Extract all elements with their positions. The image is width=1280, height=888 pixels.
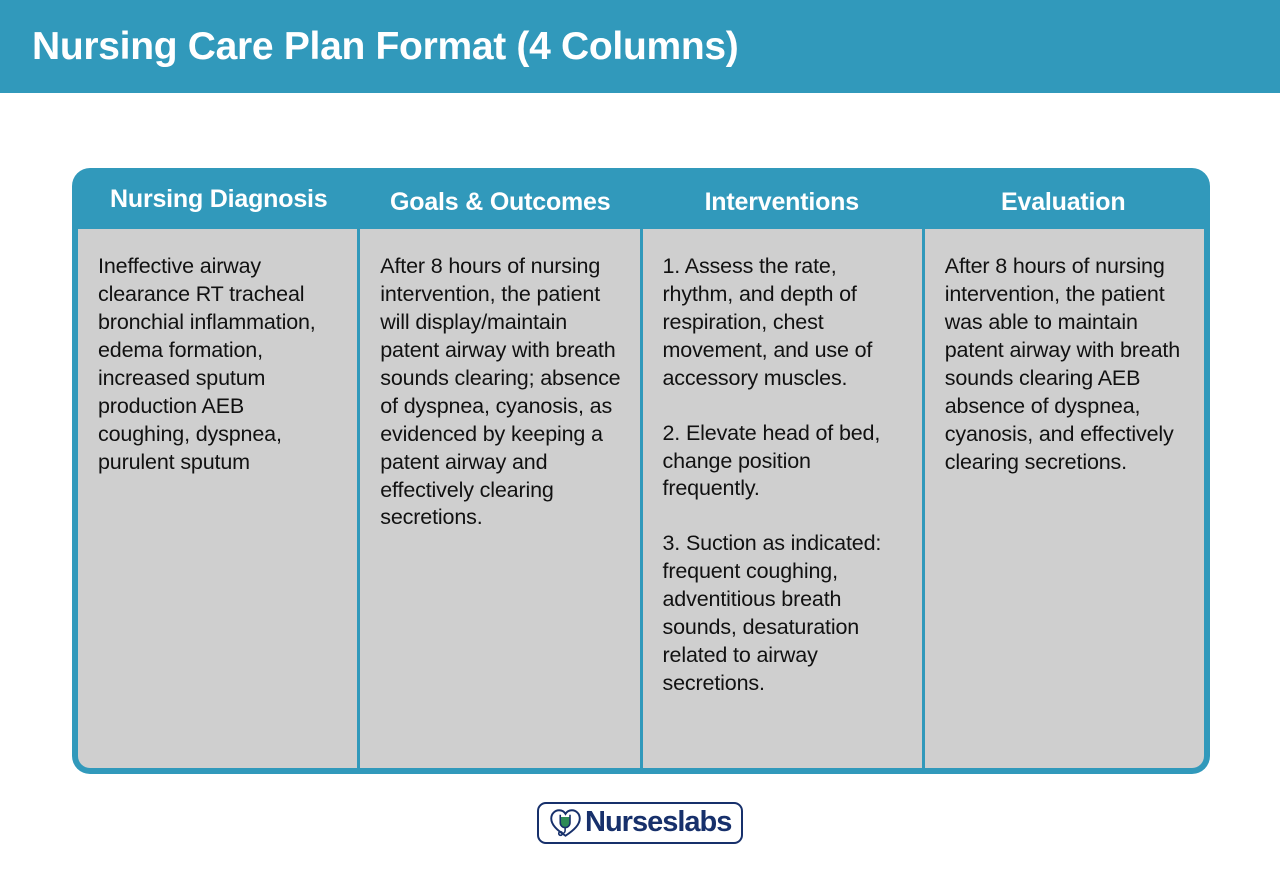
table-cell-evaluation: After 8 hours of nursing intervention, t…	[925, 229, 1204, 768]
column-header-label: Goals & Outcomes	[390, 188, 610, 217]
cell-paragraph: 2. Elevate head of bed, change position …	[663, 420, 904, 504]
column-header-goals-outcomes: Goals & Outcomes	[360, 168, 642, 229]
page-title: Nursing Care Plan Format (4 Columns)	[0, 27, 738, 66]
nurseslabs-logo: Nurseslabs	[537, 802, 743, 844]
table-body-row: Ineffective airway clearance RT tracheal…	[78, 229, 1204, 768]
heart-stethoscope-icon	[549, 808, 582, 838]
logo-wordmark: Nurseslabs	[585, 808, 731, 839]
column-header-interventions: Interventions	[641, 168, 923, 229]
cell-paragraph: Ineffective airway clearance RT tracheal…	[98, 253, 339, 477]
table-cell-goals-outcomes: After 8 hours of nursing intervention, t…	[360, 229, 639, 768]
page-banner: Nursing Care Plan Format (4 Columns)	[0, 0, 1280, 93]
table-cell-interventions: 1. Assess the rate, rhythm, and depth of…	[643, 229, 922, 768]
column-header-label: Evaluation	[1001, 188, 1125, 217]
column-header-label: Nursing Diagnosis	[110, 185, 327, 214]
cell-paragraph: 3. Suction as indicated: frequent coughi…	[663, 530, 904, 698]
care-plan-table: Nursing Diagnosis Goals & Outcomes Inter…	[72, 168, 1210, 774]
cell-paragraph: 1. Assess the rate, rhythm, and depth of…	[663, 253, 904, 393]
column-header-label: Interventions	[705, 188, 859, 217]
column-header-evaluation: Evaluation	[923, 168, 1205, 229]
column-header-nursing-diagnosis: Nursing Diagnosis	[78, 168, 360, 229]
table-header-row: Nursing Diagnosis Goals & Outcomes Inter…	[78, 168, 1204, 229]
table-cell-nursing-diagnosis: Ineffective airway clearance RT tracheal…	[78, 229, 357, 768]
cell-paragraph: After 8 hours of nursing intervention, t…	[380, 253, 621, 532]
cell-paragraph: After 8 hours of nursing intervention, t…	[945, 253, 1186, 477]
